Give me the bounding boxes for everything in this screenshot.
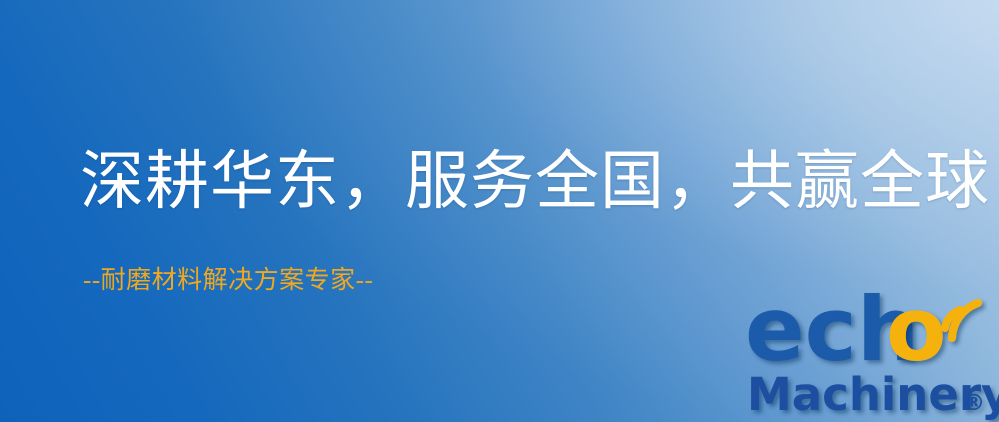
wifi-arcs-icon bbox=[945, 303, 978, 338]
promo-banner: 深耕华东，服务全国，共赢全球 --耐磨材料解决方案专家-- ech o bbox=[0, 0, 999, 422]
logo-tagline: Machinery ® bbox=[747, 368, 999, 421]
registered-trademark-icon: ® bbox=[963, 391, 985, 416]
echo-machinery-logo[interactable]: ech o Machinery ® bbox=[745, 292, 999, 422]
banner-subtitle: --耐磨材料解决方案专家-- bbox=[83, 268, 373, 293]
logo-machinery-text: Machinery bbox=[747, 368, 999, 421]
banner-headline: 深耕华东，服务全国，共赢全球 bbox=[80, 150, 990, 214]
